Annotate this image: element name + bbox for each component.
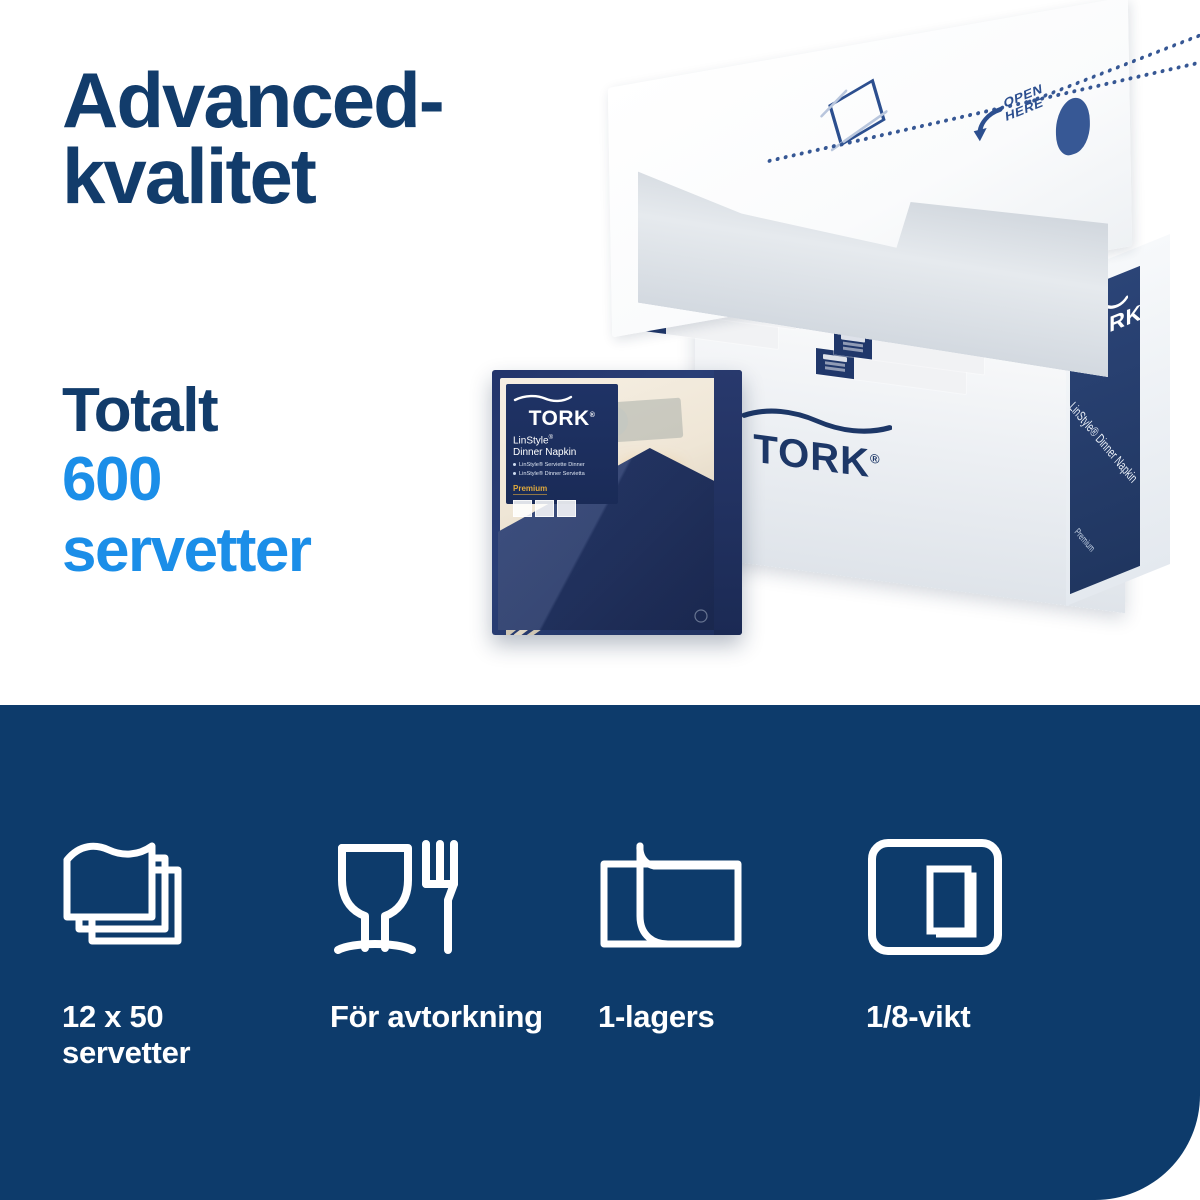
pack-tier-badge: Premium [513,484,547,495]
feature-item-fold: 1/8-vikt [866,823,1134,1071]
pack-pictogram-ply-icon [513,500,532,517]
recycle-icon [694,609,708,623]
feature-band: 12 x 50 servetter För avtorkning [0,705,1200,1200]
feature-list: 12 x 50 servetter För avtorkning [62,823,1142,1071]
feature-label: För avtorkning [330,999,543,1035]
pack-product-line: LinStyle® [513,435,611,447]
feature-item-ply: 1-lagers [598,823,866,1071]
feature-label: 12 x 50 servetter [62,999,190,1071]
product-photo: TORK® TORK LinStyle® Dinner Napkin Premi… [470,30,1170,690]
product-marketing-banner: Advanced- kvalitet Totalt 600 servetter [0,0,1200,1200]
pack-product-type: Dinner Napkin [513,447,611,459]
feature-label: 1/8-vikt [866,999,970,1035]
pack-brand-name: TORK® [513,408,611,430]
pack-label: TORK® LinStyle® Dinner Napkin LinStyle® … [506,384,618,504]
single-ply-icon [598,823,748,973]
pack-side-face [714,370,742,635]
pack-pictogram-row [513,500,611,517]
carton-side-product-line: LinStyle® Dinner Napkin [1070,400,1140,488]
pack-language-variants: LinStyle® Serviette Dinner LinStyle® Din… [513,461,611,478]
pack-bullet: LinStyle® Serviette Dinner [513,461,611,469]
carton-side-tier: Premium [1072,526,1097,554]
headline-line-1: Advanced- [62,56,443,144]
feature-item-usage: För avtorkning [330,823,598,1071]
glass-fork-food-safe-icon [330,823,464,973]
tork-wave-icon [513,394,573,403]
napkin-stack-icon [62,823,188,973]
feature-label: 1-lagers [598,999,715,1035]
pack-softness-badge [611,398,684,443]
eighth-fold-icon [866,823,1004,973]
napkin-pack: TORK® LinStyle® Dinner Napkin LinStyle® … [492,370,742,635]
feature-item-pack-count: 12 x 50 servetter [62,823,330,1071]
pack-bullet: LinStyle® Dinner Servietta [513,470,611,478]
pack-pictogram-fold-icon [535,500,554,517]
pack-pictogram-size-icon [557,500,576,517]
